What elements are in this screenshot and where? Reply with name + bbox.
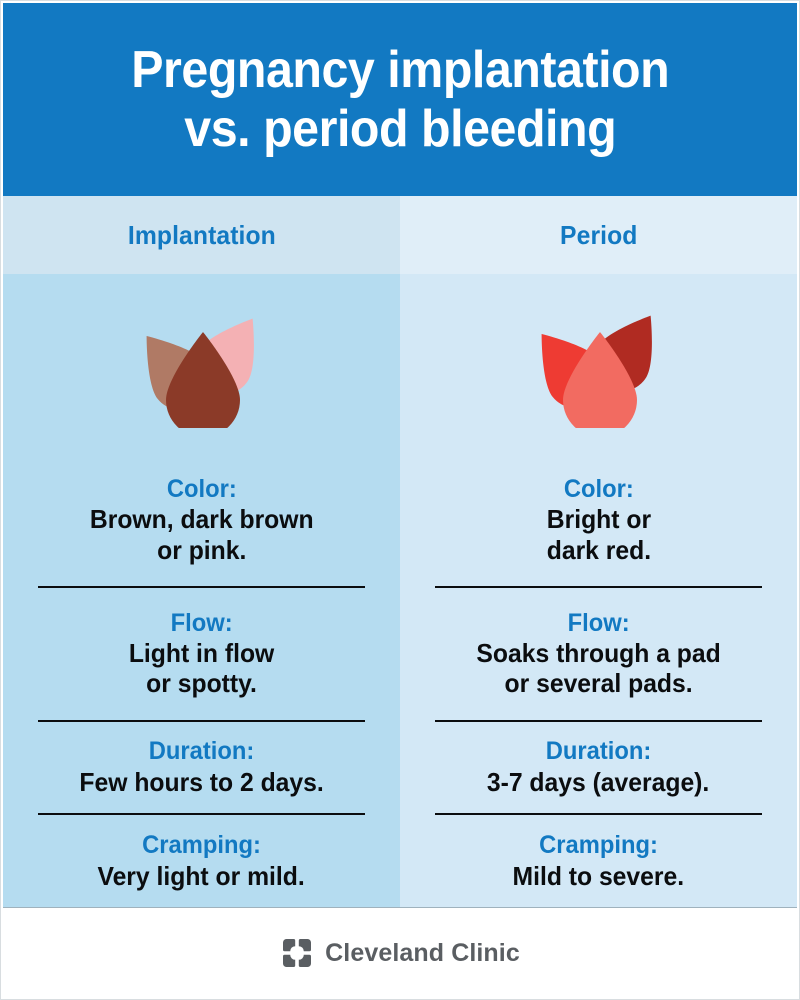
attribute-row-cramping: Cramping: Mild to severe. xyxy=(435,815,762,907)
attribute-label: Cramping: xyxy=(142,831,261,861)
attribute-value: Brown, dark brown or pink. xyxy=(90,504,314,564)
blood-droplets-illustration xyxy=(127,300,277,428)
footer-brand: Cleveland Clinic xyxy=(3,909,797,997)
attribute-row-color: Color: Brown, dark brown or pink. xyxy=(38,454,365,588)
page-title-line-2: vs. period bleeding xyxy=(131,100,669,159)
attribute-row-duration: Duration: 3-7 days (average). xyxy=(435,722,762,815)
attribute-label: Color: xyxy=(167,475,237,505)
attribute-row-flow: Flow: Soaks through a pad or several pad… xyxy=(435,588,762,722)
attribute-value-line-1: Very light or mild. xyxy=(98,861,305,891)
attribute-row-duration: Duration: Few hours to 2 days. xyxy=(38,722,365,815)
page-title: Pregnancy implantation vs. period bleedi… xyxy=(94,41,706,159)
attribute-value-line-1: Brown, dark brown xyxy=(90,504,314,534)
column-header-implantation: Implantation xyxy=(3,196,400,274)
droplet-group-implantation xyxy=(3,274,400,454)
attribute-label: Color: xyxy=(564,475,634,505)
column-header-label: Period xyxy=(560,220,637,251)
attribute-value-line-2: dark red. xyxy=(546,535,650,565)
cleveland-clinic-pinwheel-icon xyxy=(280,936,314,970)
attribute-row-color: Color: Bright or dark red. xyxy=(435,454,762,588)
attribute-value: Bright or dark red. xyxy=(546,504,650,564)
blood-droplets-illustration xyxy=(524,300,674,428)
attribute-value-line-2: or pink. xyxy=(90,535,314,565)
attribute-rows-implantation: Color: Brown, dark brown or pink. Flow: … xyxy=(3,454,400,907)
attribute-label: Cramping: xyxy=(539,831,658,861)
droplet-group-period xyxy=(400,274,797,454)
header-banner: Pregnancy implantation vs. period bleedi… xyxy=(3,3,797,196)
infographic-root: Pregnancy implantation vs. period bleedi… xyxy=(0,0,800,1000)
attribute-value: 3-7 days (average). xyxy=(487,767,709,797)
attribute-value-line-2: or spotty. xyxy=(129,668,274,698)
attribute-value: Few hours to 2 days. xyxy=(79,767,323,797)
attribute-value-line-1: 3-7 days (average). xyxy=(487,767,709,797)
column-period: Period xyxy=(400,196,797,907)
attribute-value: Mild to severe. xyxy=(513,861,685,891)
attribute-value-line-1: Mild to severe. xyxy=(513,861,685,891)
attribute-value: Light in flow or spotty. xyxy=(129,638,274,698)
column-header-label: Implantation xyxy=(128,220,276,251)
attribute-value-line-1: Light in flow xyxy=(129,638,274,668)
attribute-value-line-1: Few hours to 2 days. xyxy=(79,767,323,797)
attribute-value: Very light or mild. xyxy=(98,861,305,891)
attribute-row-flow: Flow: Light in flow or spotty. xyxy=(38,588,365,722)
page-title-line-1: Pregnancy implantation xyxy=(131,41,669,100)
attribute-row-cramping: Cramping: Very light or mild. xyxy=(38,815,365,907)
column-implantation: Implantation xyxy=(3,196,400,907)
brand-name: Cleveland Clinic xyxy=(325,939,520,968)
attribute-label: Flow: xyxy=(567,609,629,639)
attribute-value-line-2: or several pads. xyxy=(476,668,720,698)
attribute-value-line-1: Bright or xyxy=(546,504,650,534)
attribute-label: Flow: xyxy=(170,609,232,639)
comparison-table: Implantation xyxy=(3,196,797,908)
attribute-label: Duration: xyxy=(149,737,255,767)
attribute-rows-period: Color: Bright or dark red. Flow: Soaks t… xyxy=(400,454,797,907)
column-header-period: Period xyxy=(400,196,797,274)
attribute-label: Duration: xyxy=(546,737,652,767)
attribute-value-line-1: Soaks through a pad xyxy=(476,638,720,668)
attribute-value: Soaks through a pad or several pads. xyxy=(476,638,720,698)
